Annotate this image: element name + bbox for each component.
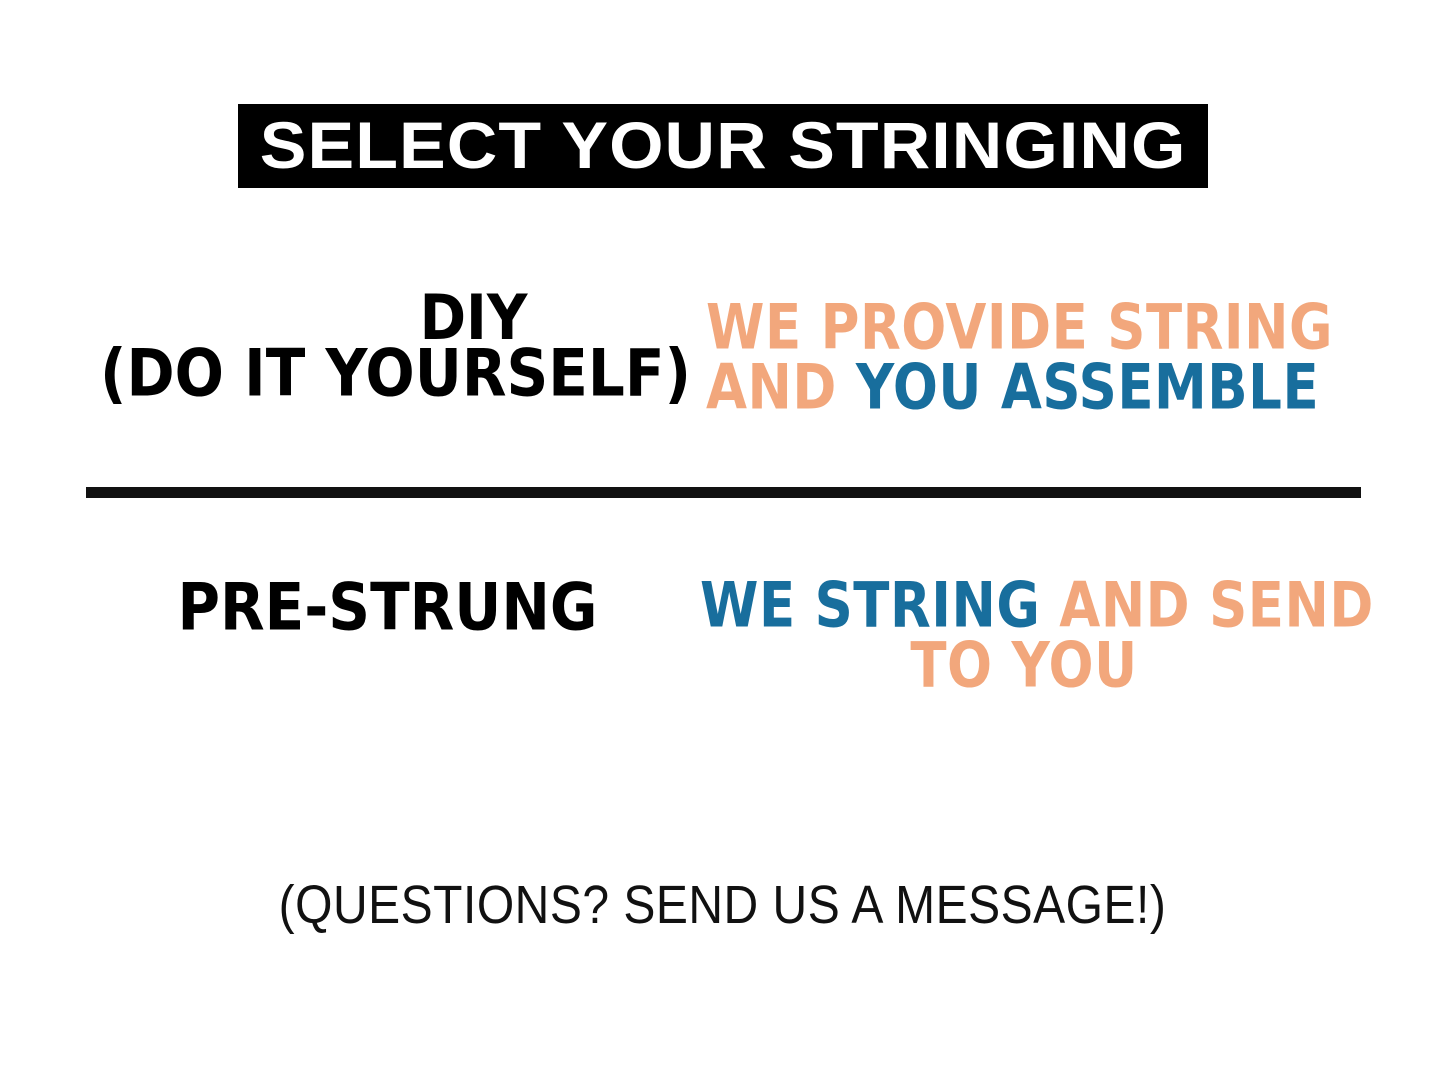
footer-note: (QUESTIONS? SEND US A MESSAGE!) xyxy=(0,878,1445,933)
page-title-bar: SELECT YOUR STRINGING xyxy=(238,104,1208,188)
option-diy-label[interactable]: DIY (DO IT YOURSELF) xyxy=(100,296,675,397)
poster-canvas: SELECT YOUR STRINGING DIY (DO IT YOURSEL… xyxy=(0,0,1445,1084)
option-pre-strung-description: WE STRING AND SEND TO YOU xyxy=(700,578,1348,687)
option-pre-strung-description-line2: TO YOU xyxy=(700,638,1348,696)
footer-note-text: (QUESTIONS? SEND US A MESSAGE!) xyxy=(279,875,1167,937)
option-diy-description-line1: WE PROVIDE STRING xyxy=(706,300,1331,358)
option-diy-label-line2: (DO IT YOURSELF) xyxy=(100,344,675,404)
option-pre-strung-label-line1: PRE-STRUNG xyxy=(100,578,675,638)
page-title: SELECT YOUR STRINGING xyxy=(260,112,1187,181)
option-diy-description-line2-and: AND xyxy=(706,351,837,423)
option-pre-strung-label[interactable]: PRE-STRUNG xyxy=(100,578,675,631)
option-diy-description: WE PROVIDE STRING AND YOU ASSEMBLE xyxy=(706,300,1331,409)
section-divider xyxy=(86,487,1361,498)
option-diy-description-line2-you-assemble: YOU ASSEMBLE xyxy=(856,351,1319,423)
